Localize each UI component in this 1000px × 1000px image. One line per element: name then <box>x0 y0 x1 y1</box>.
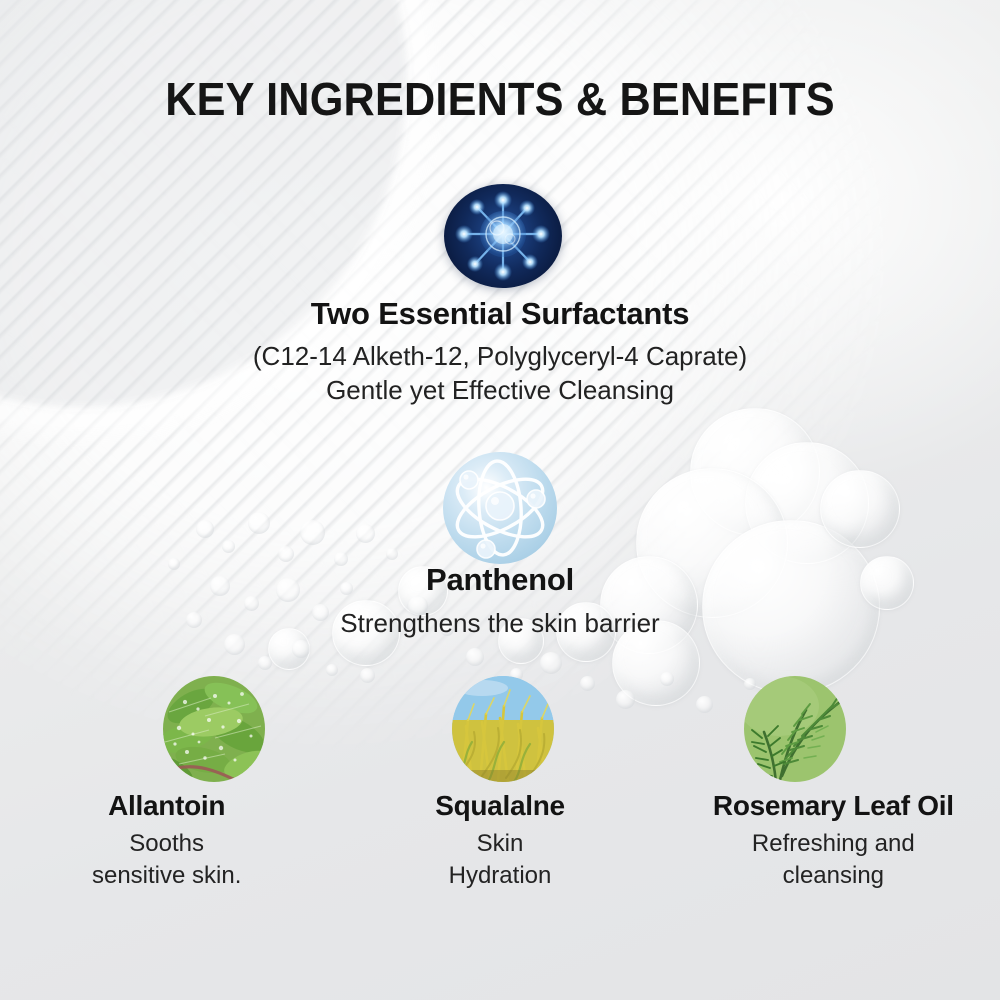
block-subtitle-line2: Gentle yet Effective Cleansing <box>0 374 1000 408</box>
block-panthenol: Panthenol Strengthens the skin barrier <box>0 562 1000 641</box>
rosemary-sprig-photo-icon <box>744 676 846 782</box>
ingredient-subtitle-line1: Skin <box>333 828 666 860</box>
block-surfactants: Two Essential Surfactants (C12-14 Alketh… <box>0 296 1000 408</box>
atom-orbit-icon <box>443 452 557 564</box>
ingredient-subtitle-line1: Refreshing and <box>667 828 1000 860</box>
ingredient-column-squalalne: Squalalne Skin Hydration <box>333 790 666 891</box>
ingredient-subtitle: Skin Hydration <box>333 828 666 891</box>
ingredient-title: Squalalne <box>333 790 666 822</box>
ingredient-subtitle: Sooths sensitive skin. <box>0 828 333 891</box>
block-subtitle: Strengthens the skin barrier <box>0 607 1000 641</box>
ingredient-subtitle-line2: cleansing <box>667 860 1000 892</box>
micelle-molecule-icon <box>444 184 562 288</box>
ingredient-column-allantoin: Allantoin Sooths sensitive skin. <box>0 790 333 891</box>
rice-field-photo-icon <box>452 676 554 782</box>
ingredient-title: Allantoin <box>0 790 333 822</box>
block-subtitle-line1: (C12-14 Alketh-12, Polyglyceryl-4 Caprat… <box>0 340 1000 374</box>
block-title: Two Essential Surfactants <box>0 296 1000 332</box>
block-subtitle-line1: Strengthens the skin barrier <box>0 607 1000 641</box>
comfrey-leaves-photo-icon <box>163 676 265 782</box>
ingredient-subtitle-line1: Sooths <box>0 828 333 860</box>
block-title: Panthenol <box>0 562 1000 598</box>
infographic-canvas: KEY INGREDIENTS & BENEFITS <box>0 0 1000 1000</box>
page-title: KEY INGREDIENTS & BENEFITS <box>30 72 970 126</box>
block-subtitle: (C12-14 Alketh-12, Polyglyceryl-4 Caprat… <box>0 340 1000 408</box>
ingredient-title: Rosemary Leaf Oil <box>667 790 1000 822</box>
ingredient-subtitle-line2: Hydration <box>333 860 666 892</box>
ingredient-column-rosemary: Rosemary Leaf Oil Refreshing and cleansi… <box>667 790 1000 891</box>
bottom-ingredients-row: Allantoin Sooths sensitive skin. Squalal… <box>0 790 1000 891</box>
ingredient-subtitle: Refreshing and cleansing <box>667 828 1000 891</box>
ingredient-subtitle-line2: sensitive skin. <box>0 860 333 892</box>
